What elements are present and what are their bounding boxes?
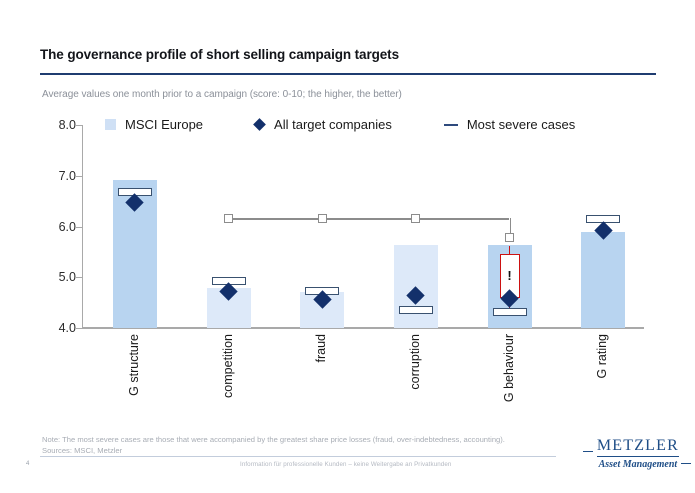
logo-tagline: Asset Management — [597, 459, 679, 470]
page-number: 4 — [26, 461, 29, 467]
metzler-logo: METZLER Asset Management — [597, 437, 679, 470]
connector-segment — [229, 218, 323, 219]
y-tick-label: 4.0 — [59, 321, 76, 335]
x-label-fraud: fraud — [314, 334, 328, 363]
page-title: The governance profile of short selling … — [40, 47, 399, 62]
x-label-g-structure: G structure — [127, 334, 141, 396]
connector-node-2 — [411, 214, 420, 223]
footer-disclaimer: Information für professionelle Kunden – … — [240, 461, 451, 468]
y-tick-label: 8.0 — [59, 118, 76, 132]
logo-rule-right — [681, 463, 691, 464]
y-tick-label: 7.0 — [59, 169, 76, 183]
severe-marker-g-behaviour — [493, 308, 527, 316]
connector-node-0 — [224, 214, 233, 223]
slide: The governance profile of short selling … — [0, 0, 695, 493]
connector-node-3 — [505, 233, 514, 242]
x-label-g-behaviour: G behaviour — [502, 334, 516, 402]
x-label-competition: competition — [221, 334, 235, 398]
title-divider — [40, 73, 656, 75]
chart-subtitle: Average values one month prior to a camp… — [42, 89, 402, 100]
chart-note: Note: The most severe cases are those th… — [42, 434, 505, 456]
x-label-g-rating: G rating — [595, 334, 609, 378]
y-tick-label: 5.0 — [59, 270, 76, 284]
y-tick-label: 6.0 — [59, 220, 76, 234]
note-line-2: Sources: MSCI, Metzler — [42, 445, 505, 456]
x-label-corruption: corruption — [408, 334, 422, 390]
note-line-1: Note: The most severe cases are those th… — [42, 434, 505, 445]
logo-rule-left — [583, 451, 593, 452]
connector-segment — [416, 218, 510, 219]
plot-area: ! — [82, 125, 644, 328]
y-tick-mark — [76, 328, 82, 329]
severe-marker-corruption — [399, 306, 433, 314]
logo-wordmark: METZLER — [597, 437, 679, 457]
bar-g-rating — [581, 232, 625, 328]
connector-node-1 — [318, 214, 327, 223]
footer-divider — [40, 456, 556, 457]
connector-segment — [322, 218, 416, 219]
